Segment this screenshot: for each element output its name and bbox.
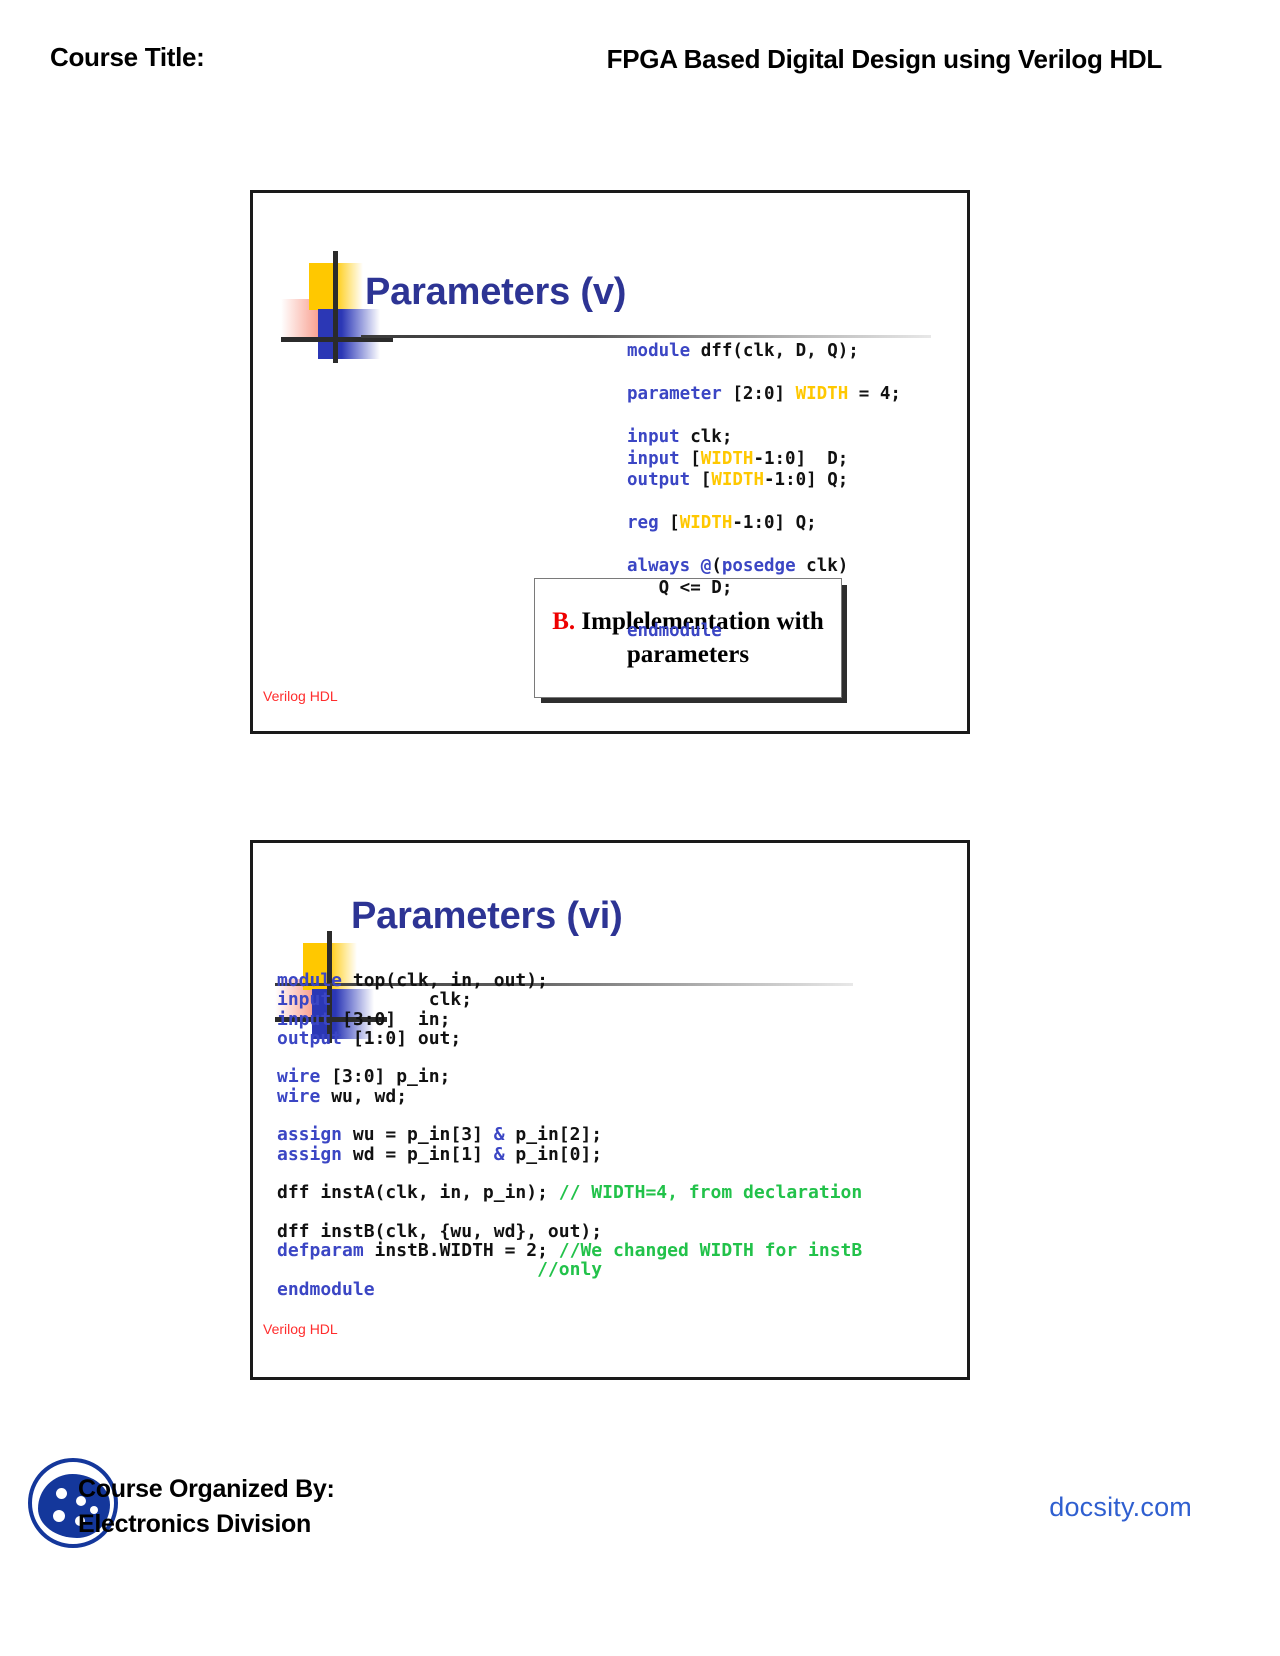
- code-line: dff instB(clk, {wu, wd}, out);: [277, 1222, 862, 1241]
- code-token: always: [627, 556, 701, 576]
- code-token: p_in[2];: [505, 1124, 603, 1145]
- code-line: output [1:0] out;: [277, 1029, 862, 1048]
- code-line: input clk;: [277, 990, 862, 1009]
- code-line: wire [3:0] p_in;: [277, 1067, 862, 1086]
- code-token: posedge: [722, 556, 806, 576]
- code-line: //only: [277, 1260, 862, 1279]
- code-line: Q <= D;: [627, 578, 901, 600]
- code-line: [627, 406, 901, 428]
- code-line: defparam instB.WIDTH = 2; //We changed W…: [277, 1241, 862, 1260]
- code-line: always @(posedge clk): [627, 556, 901, 578]
- code-token: clk;: [342, 989, 472, 1010]
- organized-by-text: Course Organized By: Electronics Divisio…: [78, 1472, 335, 1541]
- code-token: top(clk, in, out);: [353, 970, 548, 991]
- code-line: reg [WIDTH-1:0] Q;: [627, 513, 901, 535]
- slide-title: Parameters (v): [365, 271, 626, 314]
- code-token: assign: [277, 1144, 353, 1165]
- organized-by-line1: Course Organized By:: [78, 1472, 335, 1507]
- code-token: WIDTH: [711, 470, 764, 490]
- course-title-value: FPGA Based Digital Design using Verilog …: [542, 42, 1162, 76]
- logo-dot: [53, 1510, 65, 1522]
- code-token: @: [701, 556, 712, 576]
- code-line: [277, 1203, 862, 1222]
- code-token: // WIDTH=4, from declaration: [559, 1182, 862, 1203]
- code-line: [627, 363, 901, 385]
- code-line: dff instA(clk, in, p_in); // WIDTH=4, fr…: [277, 1183, 862, 1202]
- code-token: input: [277, 1009, 342, 1030]
- code-token: endmodule: [277, 1279, 375, 1300]
- slide-title: Parameters (vi): [351, 895, 623, 938]
- code-token: [: [701, 470, 712, 490]
- logo-vertical-line: [333, 251, 338, 363]
- code-token: defparam: [277, 1240, 375, 1261]
- code-token: module: [277, 970, 353, 991]
- page-header: Course Title: FPGA Based Digital Design …: [0, 34, 1280, 124]
- code-token: [277, 1259, 537, 1280]
- code-line: parameter [2:0] WIDTH = 4;: [627, 384, 901, 406]
- code-token: //We changed WIDTH for instB: [559, 1240, 862, 1261]
- code-token: &: [494, 1124, 505, 1145]
- code-token: [3:0] in;: [342, 1009, 450, 1030]
- code-line: wire wu, wd;: [277, 1087, 862, 1106]
- code-token: = 4;: [848, 384, 901, 404]
- code-line: [627, 535, 901, 557]
- code-token: [3:0] p_in;: [331, 1066, 450, 1087]
- code-token: wire: [277, 1086, 331, 1107]
- code-line: assign wu = p_in[3] & p_in[2];: [277, 1125, 862, 1144]
- code-token: -1:0] D;: [753, 449, 848, 469]
- slide-parameters-v: Parameters (v) B. Implelementation with …: [250, 190, 970, 734]
- code-token: dff(clk, D, Q);: [701, 341, 859, 361]
- code-token: parameter: [627, 384, 732, 404]
- code-block-dff-module: module dff(clk, D, Q); parameter [2:0] W…: [627, 341, 901, 642]
- code-token: dff instA(clk, in, p_in);: [277, 1182, 559, 1203]
- code-token: output: [627, 470, 701, 490]
- docsity-watermark[interactable]: docsity.com: [1049, 1492, 1192, 1523]
- code-token: WIDTH: [680, 513, 733, 533]
- code-token: [: [690, 449, 701, 469]
- code-token: [2:0]: [732, 384, 795, 404]
- code-line: module dff(clk, D, Q);: [627, 341, 901, 363]
- code-token: endmodule: [627, 621, 722, 641]
- code-line: output [WIDTH-1:0] Q;: [627, 470, 901, 492]
- code-token: instB.WIDTH = 2;: [375, 1240, 559, 1261]
- code-token: -1:0] Q;: [732, 513, 816, 533]
- code-token: output: [277, 1028, 353, 1049]
- code-token: wd = p_in[1]: [353, 1144, 494, 1165]
- organized-by-line2: Electronics Division: [78, 1507, 335, 1542]
- code-token: dff instB(clk, {wu, wd}, out);: [277, 1221, 602, 1242]
- slide-footer-label: Verilog HDL: [263, 688, 338, 704]
- code-token: &: [494, 1144, 505, 1165]
- code-token: wu, wd;: [331, 1086, 407, 1107]
- code-line: endmodule: [627, 621, 901, 643]
- code-line: [277, 1106, 862, 1125]
- code-token: WIDTH: [796, 384, 849, 404]
- code-line: [277, 1164, 862, 1183]
- code-token: assign: [277, 1124, 353, 1145]
- callout-letter: B.: [552, 608, 575, 635]
- code-line: module top(clk, in, out);: [277, 971, 862, 990]
- code-token: (: [711, 556, 722, 576]
- page-footer: Course Organized By: Electronics Divisio…: [0, 1448, 1280, 1578]
- title-underline: [361, 335, 931, 338]
- slide-parameters-vi: Parameters (vi) module top(clk, in, out)…: [250, 840, 970, 1380]
- code-token: input: [277, 989, 342, 1010]
- code-line: endmodule: [277, 1280, 862, 1299]
- code-token: //only: [537, 1259, 602, 1280]
- logo-blue-square: [318, 309, 380, 359]
- code-token: [: [669, 513, 680, 533]
- code-line: input clk;: [627, 427, 901, 449]
- code-token: WIDTH: [701, 449, 754, 469]
- code-line: [627, 492, 901, 514]
- code-token: -1:0] Q;: [764, 470, 848, 490]
- code-token: input: [627, 449, 690, 469]
- code-token: clk): [806, 556, 848, 576]
- code-line: assign wd = p_in[1] & p_in[0];: [277, 1145, 862, 1164]
- code-token: Q <= D;: [627, 578, 732, 598]
- code-line: input [3:0] in;: [277, 1010, 862, 1029]
- code-token: reg: [627, 513, 669, 533]
- code-token: module: [627, 341, 701, 361]
- code-token: [1:0] out;: [353, 1028, 461, 1049]
- course-title-label: Course Title:: [50, 42, 205, 73]
- code-token: wu = p_in[3]: [353, 1124, 494, 1145]
- code-block-top-module: module top(clk, in, out);input clk;input…: [277, 971, 862, 1299]
- code-line: [627, 599, 901, 621]
- code-token: wire: [277, 1066, 331, 1087]
- code-token: input: [627, 427, 690, 447]
- code-token: p_in[0];: [505, 1144, 603, 1165]
- logo-dot: [56, 1488, 67, 1499]
- code-line: [277, 1048, 862, 1067]
- slide-footer-label: Verilog HDL: [263, 1321, 338, 1337]
- code-token: clk;: [690, 427, 732, 447]
- code-line: input [WIDTH-1:0] D;: [627, 449, 901, 471]
